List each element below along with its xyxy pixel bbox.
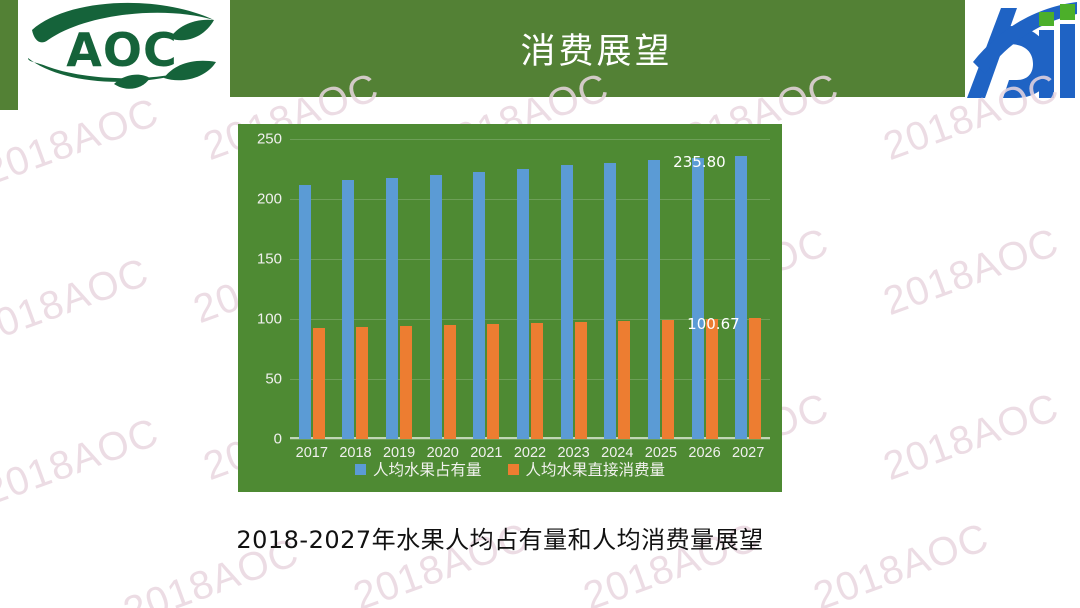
watermark-text: 2018AOC bbox=[0, 410, 165, 515]
chart-caption: 2018-2027年水果人均占有量和人均消费量展望 bbox=[0, 520, 1000, 555]
legend-item-2[interactable]: 人均水果直接消费量 bbox=[508, 458, 666, 480]
header-left-accent-strip bbox=[0, 0, 18, 110]
y-gridline bbox=[290, 439, 770, 440]
bar-2025-series-2 bbox=[662, 320, 674, 439]
bar-2027-series-1 bbox=[735, 156, 747, 439]
bar-2022-series-2 bbox=[531, 323, 543, 439]
bar-2017-series-2 bbox=[313, 328, 325, 439]
bar-2027-series-2 bbox=[749, 318, 761, 439]
watermark-text: 2018AOC bbox=[878, 220, 1065, 325]
bar-2023-series-2 bbox=[575, 322, 587, 439]
data-label-2027-series-1: 235.80 bbox=[673, 153, 726, 171]
bar-2020-series-1 bbox=[430, 175, 442, 439]
aii-logo bbox=[965, 0, 1080, 106]
y-axis-tick-label: 200 bbox=[257, 191, 282, 208]
bar-2019-series-2 bbox=[400, 326, 412, 439]
y-gridline bbox=[290, 139, 770, 140]
y-axis-tick-label: 150 bbox=[257, 251, 282, 268]
legend-swatch-icon bbox=[355, 464, 366, 475]
bar-2025-series-1 bbox=[648, 160, 660, 439]
bar-2018-series-2 bbox=[356, 327, 368, 439]
aoc-logo: AOC bbox=[18, 0, 230, 108]
bar-2022-series-1 bbox=[517, 169, 529, 439]
bar-2019-series-1 bbox=[386, 178, 398, 439]
y-axis-tick-label: 250 bbox=[257, 131, 282, 148]
chart-panel: 0501001502002502017201820192020202120222… bbox=[238, 124, 782, 492]
chart-plot-area: 0501001502002502017201820192020202120222… bbox=[290, 139, 770, 439]
bar-2021-series-2 bbox=[487, 324, 499, 439]
data-label-2027-series-2: 100.67 bbox=[687, 315, 740, 333]
svg-text:AOC: AOC bbox=[66, 23, 177, 77]
watermark-text: 2018AOC bbox=[878, 385, 1065, 490]
bar-2018-series-1 bbox=[342, 180, 354, 439]
bar-2021-series-1 bbox=[473, 172, 485, 439]
bar-2024-series-1 bbox=[604, 163, 616, 439]
y-axis-tick-label: 0 bbox=[274, 431, 282, 448]
watermark-text: 2018AOC bbox=[0, 250, 155, 355]
bar-2020-series-2 bbox=[444, 325, 456, 439]
y-axis-tick-label: 100 bbox=[257, 311, 282, 328]
bar-2026-series-1 bbox=[692, 158, 704, 439]
bar-2024-series-2 bbox=[618, 321, 630, 439]
legend-label: 人均水果直接消费量 bbox=[526, 458, 666, 480]
y-axis-tick-label: 50 bbox=[265, 371, 282, 388]
legend-item-1[interactable]: 人均水果占有量 bbox=[355, 458, 482, 480]
chart-legend: 人均水果占有量人均水果直接消费量 bbox=[238, 458, 782, 480]
legend-label: 人均水果占有量 bbox=[373, 458, 482, 480]
legend-swatch-icon bbox=[508, 464, 519, 475]
bar-2023-series-1 bbox=[561, 165, 573, 439]
bar-2026-series-2 bbox=[706, 319, 718, 439]
bar-2017-series-1 bbox=[299, 185, 311, 439]
page-title: 消费展望 bbox=[228, 0, 965, 97]
